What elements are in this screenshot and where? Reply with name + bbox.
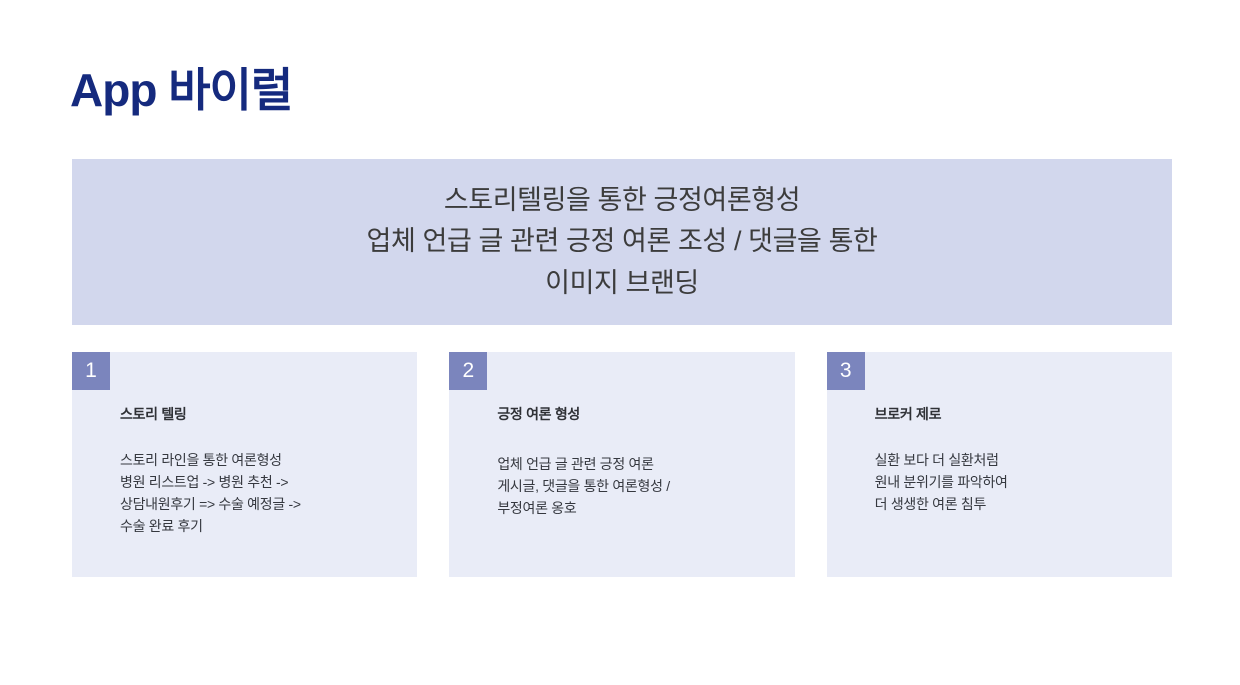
card-body: 브로커 제로 실환 보다 더 실환처럼 원내 분위기를 파악하여 더 생생한 여…	[827, 352, 1172, 515]
card-description-line: 실환 보다 더 실환처럼	[875, 449, 1154, 471]
banner-line-1: 스토리텔링을 통한 긍정여론형성	[444, 181, 800, 220]
strategy-card-1: 1 스토리 텔링 스토리 라인을 통한 여론형성 병원 리스트업 -> 병원 추…	[72, 352, 417, 577]
card-description-line: 상담내원후기 => 수술 예정글 ->	[120, 493, 399, 515]
card-number-badge: 2	[449, 352, 487, 390]
card-description: 스토리 라인을 통한 여론형성 병원 리스트업 -> 병원 추천 -> 상담내원…	[120, 449, 399, 537]
card-title: 브로커 제로	[875, 406, 1154, 423]
strategy-card-list: 1 스토리 텔링 스토리 라인을 통한 여론형성 병원 리스트업 -> 병원 추…	[72, 352, 1172, 577]
strategy-card-3: 3 브로커 제로 실환 보다 더 실환처럼 원내 분위기를 파악하여 더 생생한…	[827, 352, 1172, 577]
card-title: 스토리 텔링	[120, 406, 399, 423]
card-description-line: 더 생생한 여론 침투	[875, 493, 1154, 515]
strategy-card-2: 2 긍정 여론 형성 업체 언급 글 관련 긍정 여론 게시글, 댓글을 통한 …	[449, 352, 794, 577]
page-title: App 바이럴	[70, 65, 292, 116]
card-title: 긍정 여론 형성	[497, 406, 776, 423]
card-description-line: 원내 분위기를 파악하여	[875, 471, 1154, 493]
card-description-line: 부정여론 옹호	[497, 497, 776, 519]
card-number-badge: 3	[827, 352, 865, 390]
card-description-line: 업체 언급 글 관련 긍정 여론	[497, 453, 776, 475]
card-description: 실환 보다 더 실환처럼 원내 분위기를 파악하여 더 생생한 여론 침투	[875, 449, 1154, 515]
banner-line-3: 이미지 브랜딩	[545, 264, 699, 303]
headline-banner: 스토리텔링을 통한 긍정여론형성 업체 언급 글 관련 긍정 여론 조성 / 댓…	[72, 159, 1172, 325]
card-body: 긍정 여론 형성 업체 언급 글 관련 긍정 여론 게시글, 댓글을 통한 여론…	[449, 352, 794, 519]
card-description-line: 스토리 라인을 통한 여론형성	[120, 449, 399, 471]
card-description: 업체 언급 글 관련 긍정 여론 게시글, 댓글을 통한 여론형성 / 부정여론…	[497, 453, 776, 519]
card-description-line: 수술 완료 후기	[120, 515, 399, 537]
card-number-badge: 1	[72, 352, 110, 390]
card-description-line: 게시글, 댓글을 통한 여론형성 /	[497, 475, 776, 497]
card-description-line: 병원 리스트업 -> 병원 추천 ->	[120, 471, 399, 493]
banner-line-2: 업체 언급 글 관련 긍정 여론 조성 / 댓글을 통한	[367, 222, 878, 261]
card-body: 스토리 텔링 스토리 라인을 통한 여론형성 병원 리스트업 -> 병원 추천 …	[72, 352, 417, 537]
